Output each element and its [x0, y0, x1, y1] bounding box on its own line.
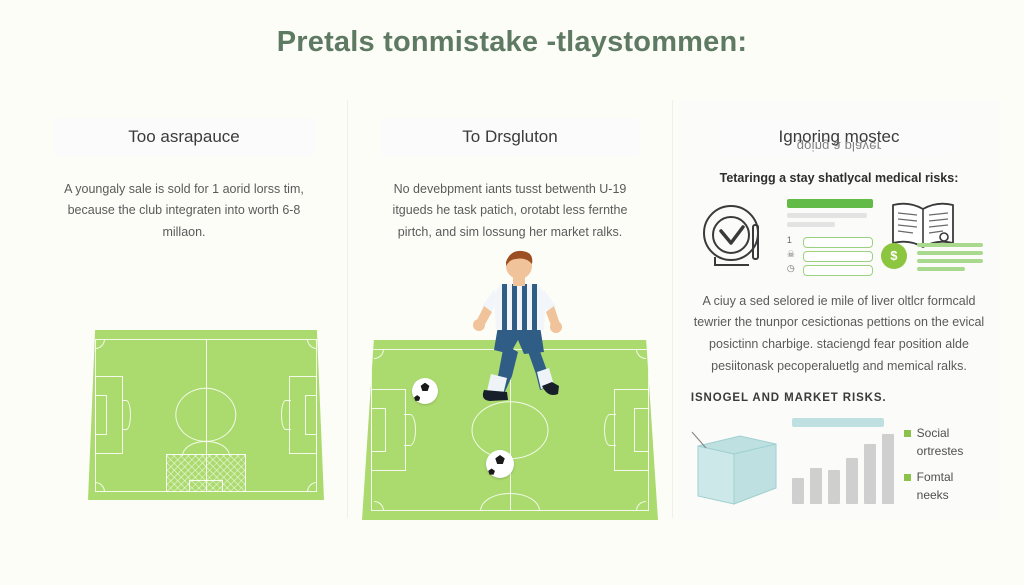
- chart-illustration: Social ortrestes Fomtal neeks: [688, 412, 991, 512]
- column-3-heading-text: Ignoring mostec: [779, 127, 900, 146]
- grey-bar-2: [787, 222, 835, 227]
- green-line: [917, 251, 983, 255]
- column-3-lead-text: Tetaringg a stay shatlycal medical risks…: [694, 171, 984, 185]
- column-3: Ignoring mostec going a player Tetaringg…: [678, 100, 1000, 520]
- icon-row: 1 ☠ ◷ $: [691, 195, 987, 281]
- list-row: [803, 251, 873, 262]
- column-3-subheading: ISNOGEL AND MARKET RISKS.: [691, 392, 987, 404]
- pitch-goal-box-left: [371, 408, 386, 451]
- green-line: [917, 243, 983, 247]
- grey-bar-1: [787, 213, 867, 218]
- column-divider-1: [347, 100, 348, 518]
- legend-entry-fomtal: Fomtal neeks: [904, 468, 954, 504]
- legend-label-line1: Fomtal: [917, 470, 954, 484]
- pitch-goal-box-right: [634, 408, 649, 451]
- pitch-goal-mouth: [189, 480, 222, 492]
- legend-swatch: [904, 474, 911, 481]
- column-2-body: No devebpment iants tusst betwenth U-19 …: [384, 179, 637, 245]
- green-line: [917, 259, 983, 263]
- soccer-ball: [412, 378, 438, 404]
- number-glyph: 1: [787, 235, 792, 245]
- legend-label-line2: ortrestes: [917, 444, 964, 458]
- pitch-goal-box-left: [95, 395, 107, 436]
- person-glyph: ☠: [787, 249, 795, 260]
- football-pitch: [88, 330, 324, 500]
- green-progress-bars-icon: [787, 199, 873, 229]
- football-player-illustration: [460, 248, 580, 408]
- legend-label-line1: Social: [917, 426, 950, 440]
- green-line: [917, 267, 965, 271]
- list-row: [803, 265, 873, 276]
- chart-bar: [810, 468, 822, 504]
- soccer-ball: [486, 450, 514, 478]
- pitch-arc-left: [122, 400, 131, 431]
- chart-bar: [864, 444, 876, 504]
- chart-bar: [792, 478, 804, 504]
- pitch-illustration-1: [88, 330, 324, 500]
- chart-accent-bar: [792, 418, 884, 427]
- list-rows-icon: 1 ☠ ◷: [787, 237, 873, 279]
- pitch-arc-left: [404, 414, 416, 446]
- poster-root: Pretals tonmistake -tlaystommen: Too asr…: [0, 0, 1024, 585]
- legend-label-line2: neeks: [917, 488, 949, 502]
- column-3-heading: Ignoring mostec going a player: [720, 118, 957, 157]
- page-title: Pretals tonmistake -tlaystommen:: [0, 26, 1024, 59]
- pitch-center-circle: [472, 401, 549, 459]
- legend-swatch: [904, 430, 911, 437]
- pitch-goal-box-right: [305, 395, 317, 436]
- dollar-coin-icon: $: [881, 243, 907, 269]
- pitch-arc-right: [604, 414, 616, 446]
- column-3-body: A ciuy a sed selored ie mile of liver ol…: [691, 291, 987, 379]
- green-lines-icon: [917, 243, 983, 271]
- column-1: Too asrapauce A youngaly sale is sold fo…: [24, 100, 344, 520]
- column-2: To Drsgluton No devebpment iants tusst b…: [352, 100, 668, 520]
- legend-entry-social: Social ortrestes: [904, 424, 964, 460]
- clock-check-icon: [695, 199, 771, 275]
- column-1-heading: Too asrapauce: [53, 118, 315, 157]
- clock-glyph: ◷: [787, 263, 795, 274]
- column-divider-2: [672, 100, 673, 518]
- chart-bar: [828, 470, 840, 504]
- pitch-arc-right: [281, 400, 290, 431]
- list-row: [803, 237, 873, 248]
- green-bar-filled: [787, 199, 873, 208]
- column-2-heading: To Drsgluton: [381, 118, 639, 157]
- chart-bar: [846, 458, 858, 504]
- column-1-body: A youngaly sale is sold for 1 aorid lors…: [50, 179, 319, 245]
- open-box-icon: [688, 418, 784, 508]
- chart-bar: [882, 434, 894, 504]
